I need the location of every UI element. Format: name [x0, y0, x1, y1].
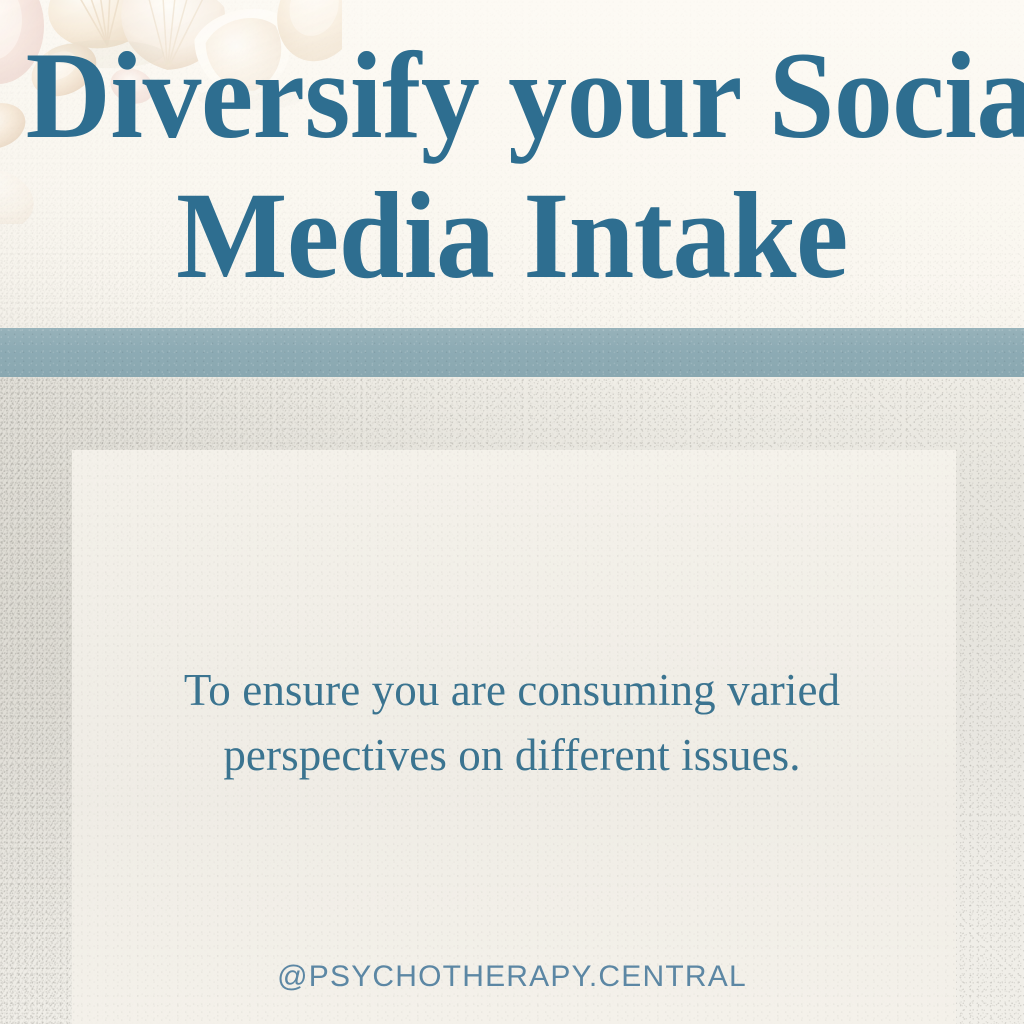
- body-text-line-2: perspectives on different issues.: [0, 723, 1024, 788]
- page-title: Diversify your Social Media Intake: [26, 26, 999, 306]
- divider-band: [0, 328, 1024, 377]
- body-text: To ensure you are consuming varied persp…: [0, 658, 1024, 789]
- social-media-post-canvas: Diversify your Social Media Intake To en…: [0, 0, 1024, 1024]
- divider-band-texture: [0, 328, 1024, 377]
- body-text-line-1: To ensure you are consuming varied: [0, 658, 1024, 723]
- account-handle: @PSYCHOTHERAPY.CENTRAL: [0, 960, 1024, 994]
- page-title-line-1: Diversify your Social: [26, 26, 999, 166]
- page-title-line-2: Media Intake: [26, 166, 999, 306]
